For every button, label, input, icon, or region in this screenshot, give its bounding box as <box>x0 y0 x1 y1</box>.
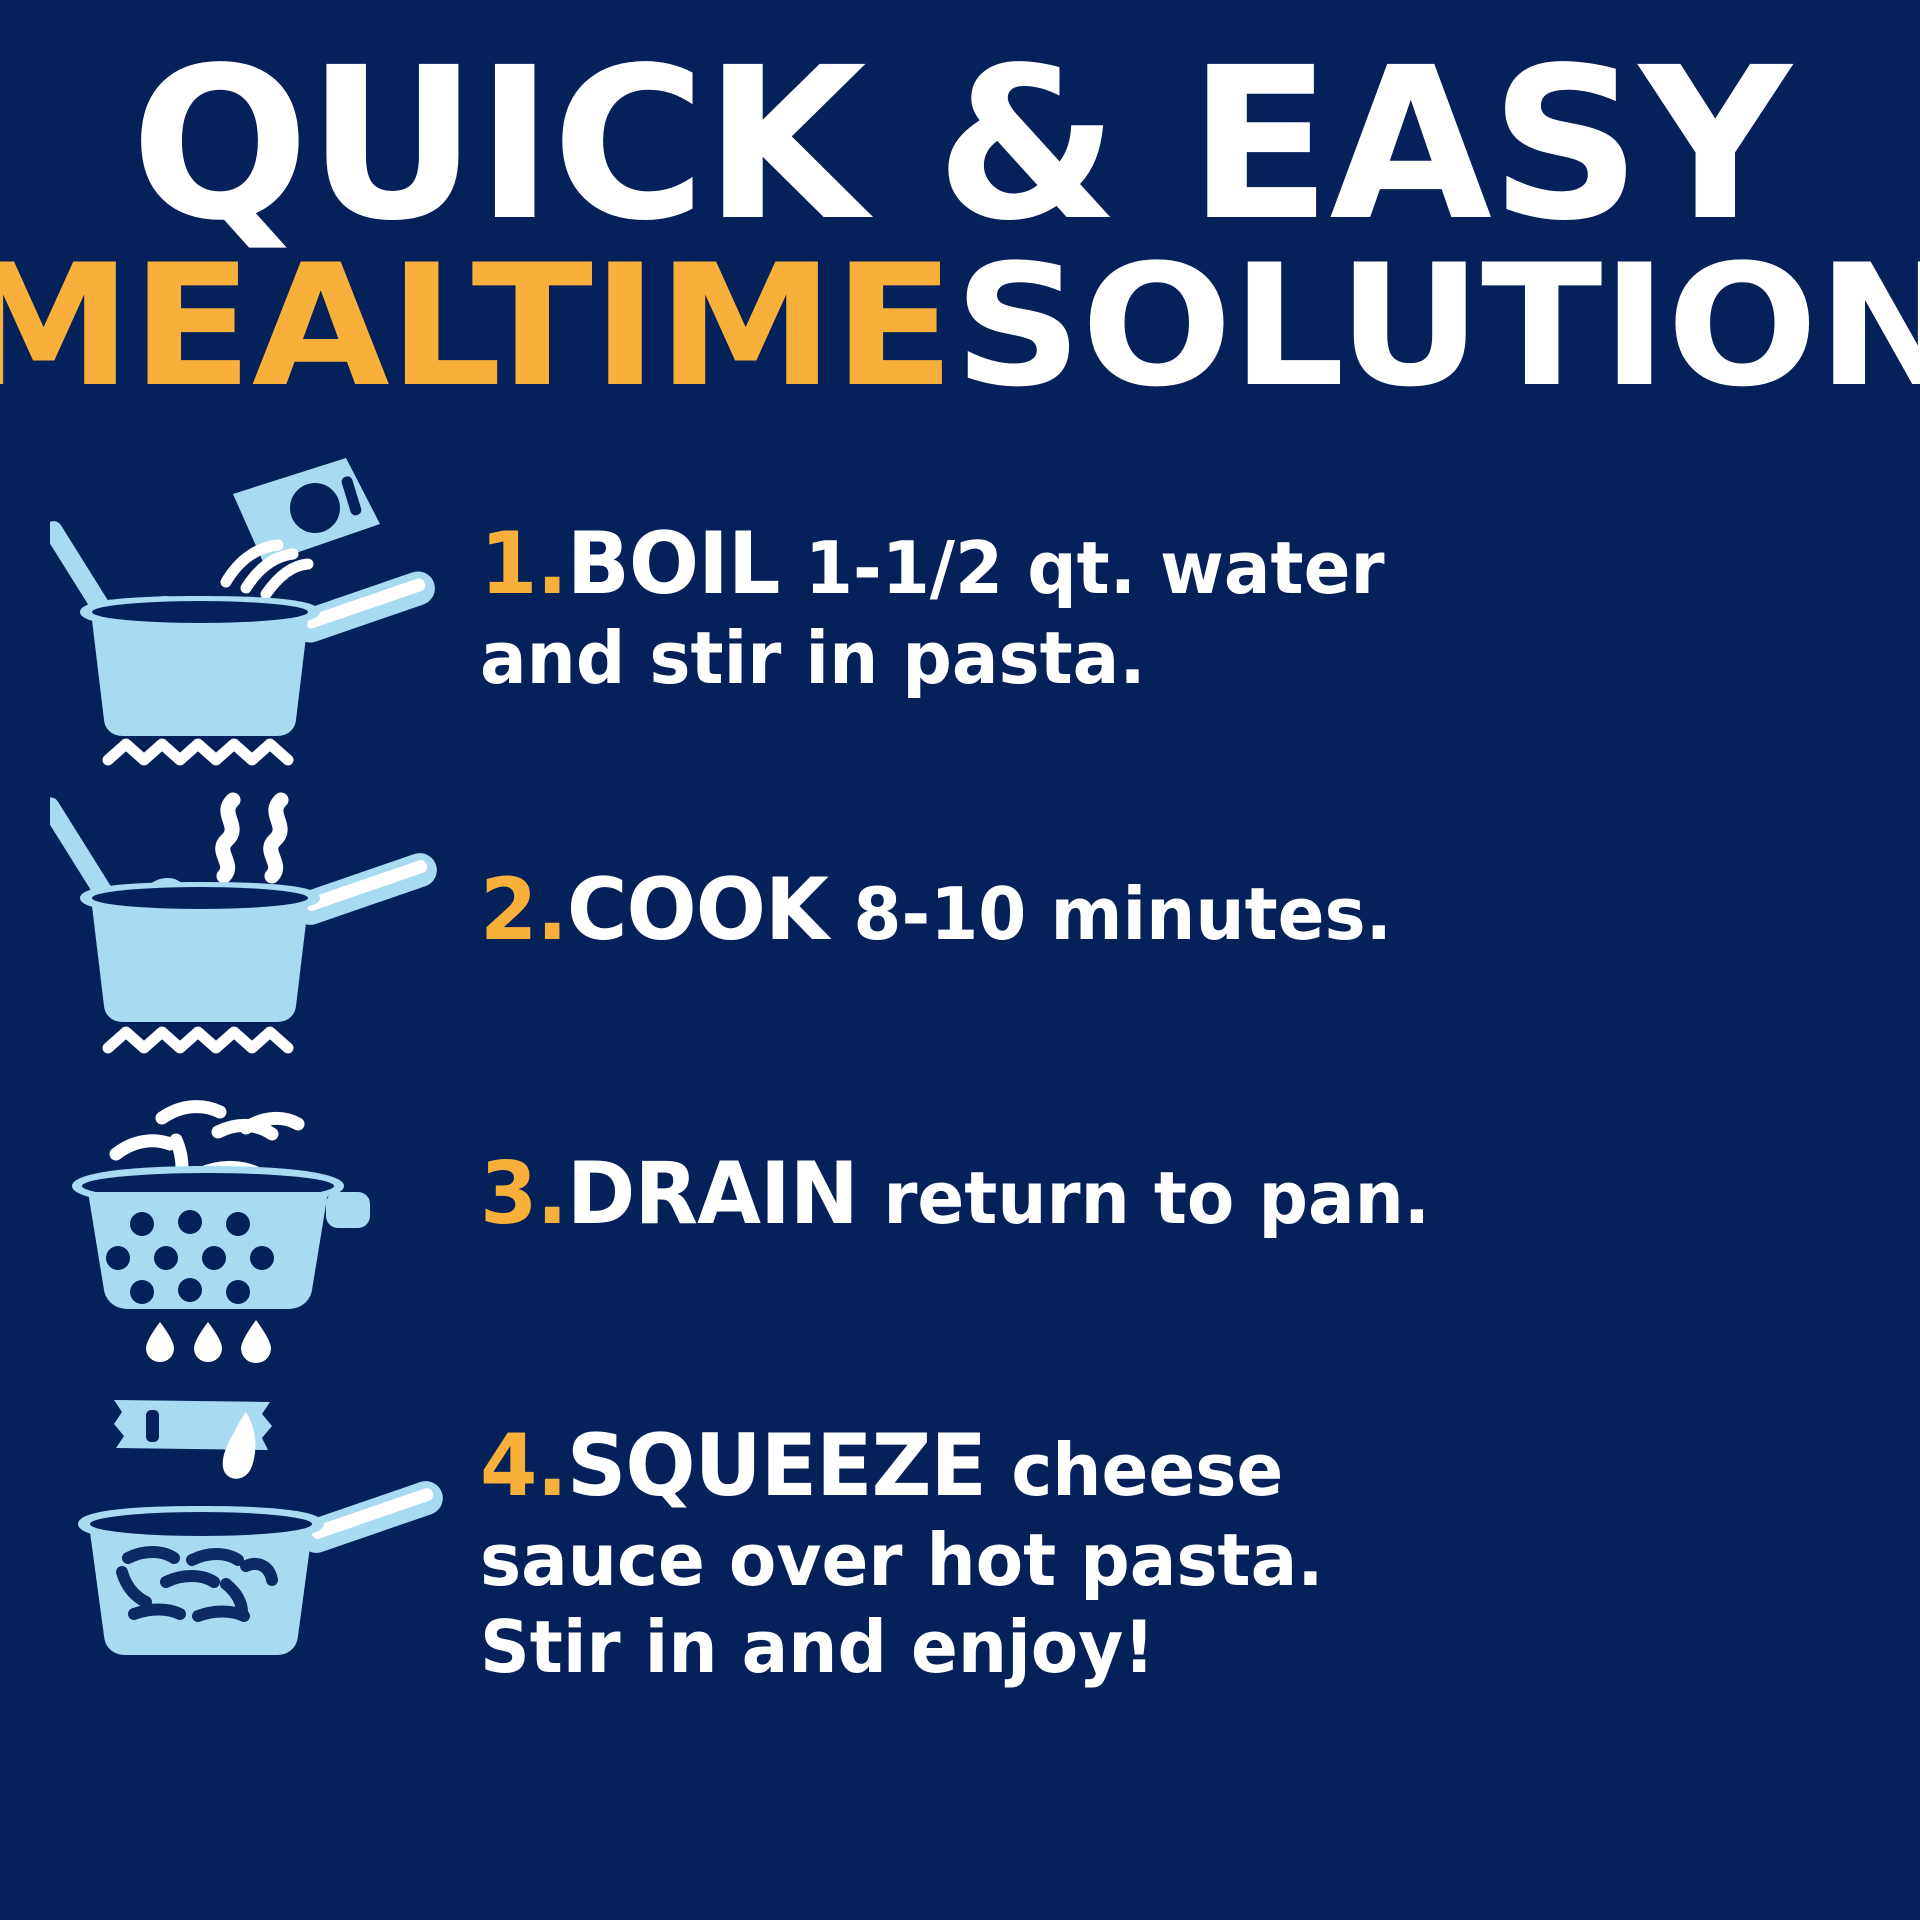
step-4-verb: SQUEEZE <box>567 1416 986 1516</box>
steps-list: 1.BOIL 1-1/2 qt. water and stir in pasta… <box>0 452 1920 1712</box>
headline-line-2: MEALTIMESOLUTION <box>0 247 1920 407</box>
step-1-headline: 1.BOIL 1-1/2 qt. water <box>480 514 1805 615</box>
cheese-pouch-pan-icon <box>50 1382 450 1712</box>
step-4-number: 4. <box>480 1416 567 1516</box>
step-3-verb: DRAIN <box>567 1144 858 1244</box>
step-row: 1.BOIL 1-1/2 qt. water and stir in pasta… <box>0 452 1920 782</box>
step-row: 4.SQUEEZE cheese sauce over hot pasta. S… <box>0 1382 1920 1712</box>
step-2-detail: 8-10 minutes. <box>853 872 1391 956</box>
step-3-detail: return to pan. <box>883 1156 1430 1240</box>
page-title: QUICK & EASY MEALTIMESOLUTION <box>0 48 1920 407</box>
step-4-detail: cheese <box>1011 1428 1283 1512</box>
step-4-icon-slot <box>0 1382 480 1712</box>
step-3-text: 3.DRAIN return to pan. <box>480 1082 1920 1245</box>
pot-with-pasta-box-icon <box>50 452 450 782</box>
step-2-headline: 2.COOK 8-10 minutes. <box>480 860 1805 961</box>
step-4-continuation-2: Stir in and enjoy! <box>480 1604 1805 1690</box>
step-2-text: 2.COOK 8-10 minutes. <box>480 782 1920 961</box>
step-3-icon-slot <box>0 1082 480 1382</box>
step-2-icon-slot <box>0 782 480 1082</box>
headline-accent-word: MEALTIME <box>0 228 954 424</box>
headline-line-1: QUICK & EASY <box>0 48 1920 241</box>
step-2-verb: COOK <box>567 860 828 960</box>
step-1-detail: 1-1/2 qt. water <box>805 526 1385 610</box>
step-4-text: 4.SQUEEZE cheese sauce over hot pasta. S… <box>480 1382 1920 1690</box>
pot-steaming-icon <box>50 782 450 1082</box>
step-3-number: 3. <box>480 1144 567 1244</box>
step-1-continuation: and stir in pasta. <box>480 615 1805 701</box>
headline-trailing-word: SOLUTION <box>954 228 1920 424</box>
step-1-icon-slot <box>0 452 480 782</box>
step-row: 3.DRAIN return to pan. <box>0 1082 1920 1382</box>
step-row: 2.COOK 8-10 minutes. <box>0 782 1920 1082</box>
step-4-continuation-1: sauce over hot pasta. <box>480 1517 1805 1603</box>
step-1-verb: BOIL <box>567 514 780 614</box>
step-1-text: 1.BOIL 1-1/2 qt. water and stir in pasta… <box>480 452 1920 702</box>
step-4-headline: 4.SQUEEZE cheese <box>480 1416 1805 1517</box>
step-2-number: 2. <box>480 860 567 960</box>
step-1-number: 1. <box>480 514 567 614</box>
recipe-instructions-poster: QUICK & EASY MEALTIMESOLUTION <box>0 0 1920 1920</box>
step-3-headline: 3.DRAIN return to pan. <box>480 1144 1805 1245</box>
colander-icon <box>50 1082 450 1382</box>
